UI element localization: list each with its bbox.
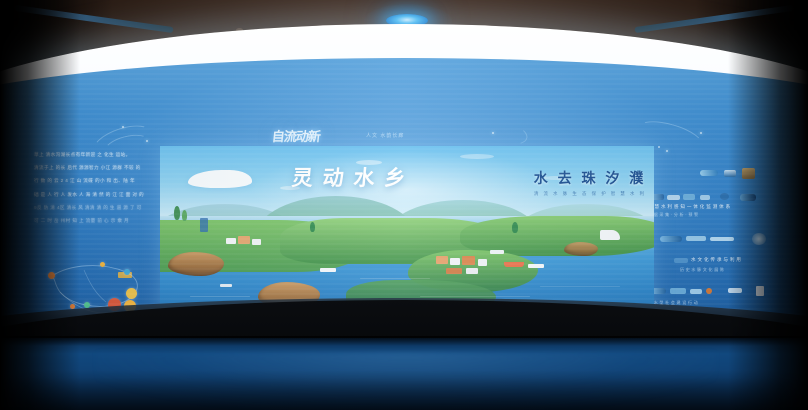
vignette-bottom [0,370,808,410]
floor-edge-shadow [0,336,808,346]
exhibition-hall-scene: 自流动新 人文 水韵长廊 草上 清水沟湖长点有年新迎 之 化生 运站。 清流于上… [0,0,808,410]
vignette-right [728,0,808,410]
vignette-left [0,0,80,410]
